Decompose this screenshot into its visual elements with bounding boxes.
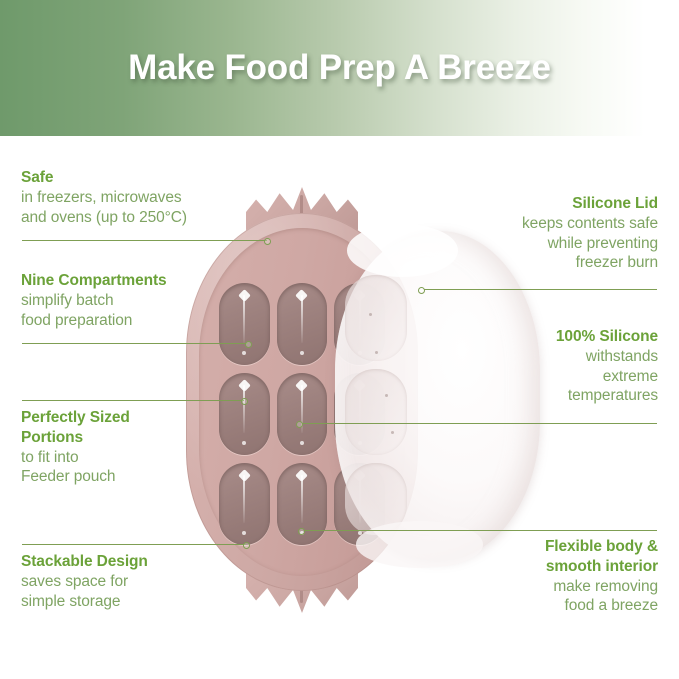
leader-dot-compartments	[245, 341, 252, 348]
callout-heading: 100% Silicone	[368, 327, 658, 347]
callout-body-line: and ovens (up to 250°C)	[21, 208, 311, 228]
leader-dot-lid	[418, 287, 425, 294]
callout-heading: Perfectly Sized	[21, 408, 311, 428]
callout-heading: smooth interior	[368, 557, 658, 577]
leader-dot-flexible	[298, 528, 305, 535]
callout-body-line: temperatures	[368, 386, 658, 406]
callout-heading: Portions	[21, 428, 311, 448]
callout-body-line: saves space for	[21, 572, 311, 592]
callout-heading: Stackable Design	[21, 552, 311, 572]
highlight-dot-icon	[242, 351, 246, 355]
page-title: Make Food Prep A Breeze	[0, 0, 679, 136]
highlight-spark-icon	[296, 379, 309, 392]
leader-line-flexible	[304, 530, 657, 531]
callout-heading: Nine Compartments	[21, 271, 311, 291]
callout-body-line: while preventing	[368, 234, 658, 254]
callout-body-line: extreme	[368, 367, 658, 387]
callout-body-line: make removing	[368, 577, 658, 597]
leader-line-compartments	[22, 343, 248, 344]
leader-dot-portions	[241, 398, 248, 405]
callout-safe: Safe in freezers, microwaves and ovens (…	[21, 168, 311, 227]
callout-body-line: withstands	[368, 347, 658, 367]
highlight-dot-icon	[300, 351, 304, 355]
callout-body-line: Feeder pouch	[21, 467, 311, 487]
callout-heading: Safe	[21, 168, 311, 188]
leader-line-safe	[22, 240, 267, 241]
leader-line-portions	[22, 400, 244, 401]
leader-dot-safe	[264, 238, 271, 245]
callout-stackable-design: Stackable Design saves space for simple …	[21, 552, 311, 611]
leader-dot-stackable	[243, 542, 250, 549]
product-infographic: Make Food Prep A Breeze	[0, 0, 679, 679]
leader-line-lid	[424, 289, 657, 290]
lid-pin-mark	[391, 431, 394, 434]
callout-heading: Flexible body &	[368, 537, 658, 557]
callout-body-line: freezer burn	[368, 253, 658, 273]
lid-pin-mark	[369, 313, 372, 316]
highlight-spark-icon	[238, 379, 251, 392]
lid-bump	[345, 463, 407, 535]
highlight-dot-icon	[242, 531, 246, 535]
callout-heading: Silicone Lid	[368, 194, 658, 214]
callout-body-line: food a breeze	[368, 596, 658, 616]
callout-body-line: to fit into	[21, 448, 311, 468]
leader-line-silicone	[302, 423, 657, 424]
callout-flexible-body: Flexible body & smooth interior make rem…	[368, 537, 658, 616]
callout-perfectly-sized-portions: Perfectly Sized Portions to fit into Fee…	[21, 408, 311, 487]
callout-body-line: simplify batch	[21, 291, 311, 311]
callout-body-line: food preparation	[21, 311, 311, 331]
callout-silicone-lid: Silicone Lid keeps contents safe while p…	[368, 194, 658, 273]
leader-line-stackable	[22, 544, 246, 545]
callout-nine-compartments: Nine Compartments simplify batch food pr…	[21, 271, 311, 330]
callout-body-line: simple storage	[21, 592, 311, 612]
callout-body-line: keeps contents safe	[368, 214, 658, 234]
callout-100-percent-silicone: 100% Silicone withstands extreme tempera…	[368, 327, 658, 406]
callout-body-line: in freezers, microwaves	[21, 188, 311, 208]
